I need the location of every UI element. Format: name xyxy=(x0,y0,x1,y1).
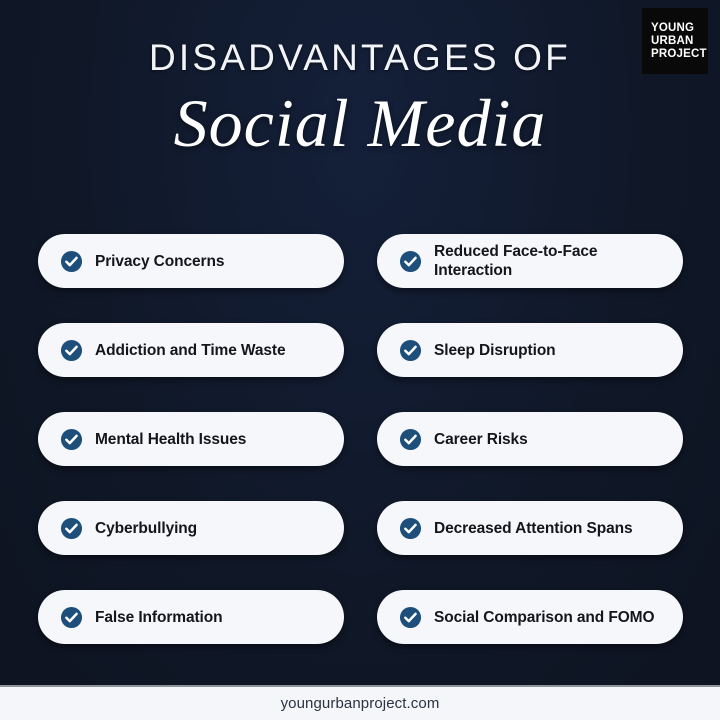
check-circle-icon xyxy=(399,250,422,273)
disadvantage-label: Addiction and Time Waste xyxy=(95,341,286,360)
check-circle-icon xyxy=(60,250,83,273)
disadvantage-label: Social Comparison and FOMO xyxy=(434,608,654,627)
disadvantage-label: Career Risks xyxy=(434,430,528,449)
check-circle-icon xyxy=(399,517,422,540)
disadvantage-card[interactable]: Mental Health Issues xyxy=(38,412,344,466)
check-circle-icon xyxy=(399,428,422,451)
check-circle-icon xyxy=(399,339,422,362)
logo-line-1: YOUNG xyxy=(651,22,694,35)
disadvantage-card[interactable]: Privacy Concerns xyxy=(38,234,344,288)
website-url: youngurbanproject.com xyxy=(281,695,440,712)
disadvantage-card[interactable]: False Information xyxy=(38,590,344,644)
disadvantages-grid: Privacy ConcernsReduced Face-to-Face Int… xyxy=(38,234,683,644)
heading-block: DISADVANTAGES OF Social Media xyxy=(0,36,720,162)
check-circle-icon xyxy=(60,517,83,540)
disadvantage-card[interactable]: Sleep Disruption xyxy=(377,323,683,377)
disadvantage-card[interactable]: Reduced Face-to-Face Interaction xyxy=(377,234,683,288)
check-circle-icon xyxy=(399,606,422,629)
disadvantage-label: Decreased Attention Spans xyxy=(434,519,632,538)
disadvantage-card[interactable]: Decreased Attention Spans xyxy=(377,501,683,555)
disadvantage-card[interactable]: Cyberbullying xyxy=(38,501,344,555)
disadvantage-label: Reduced Face-to-Face Interaction xyxy=(434,242,667,280)
disadvantage-label: Sleep Disruption xyxy=(434,341,556,360)
disadvantage-label: Cyberbullying xyxy=(95,519,197,538)
disadvantage-card[interactable]: Career Risks xyxy=(377,412,683,466)
check-circle-icon xyxy=(60,339,83,362)
page-title-kicker: DISADVANTAGES OF xyxy=(0,36,720,80)
page-title: Social Media xyxy=(0,84,720,162)
disadvantage-label: Mental Health Issues xyxy=(95,430,246,449)
disadvantage-label: Privacy Concerns xyxy=(95,252,224,271)
disadvantage-label: False Information xyxy=(95,608,223,627)
footer-bar: youngurbanproject.com xyxy=(0,685,720,720)
disadvantage-card[interactable]: Social Comparison and FOMO xyxy=(377,590,683,644)
check-circle-icon xyxy=(60,606,83,629)
check-circle-icon xyxy=(60,428,83,451)
disadvantage-card[interactable]: Addiction and Time Waste xyxy=(38,323,344,377)
poster-canvas: YOUNG URBAN PROJECT DISADVANTAGES OF Soc… xyxy=(0,0,720,720)
